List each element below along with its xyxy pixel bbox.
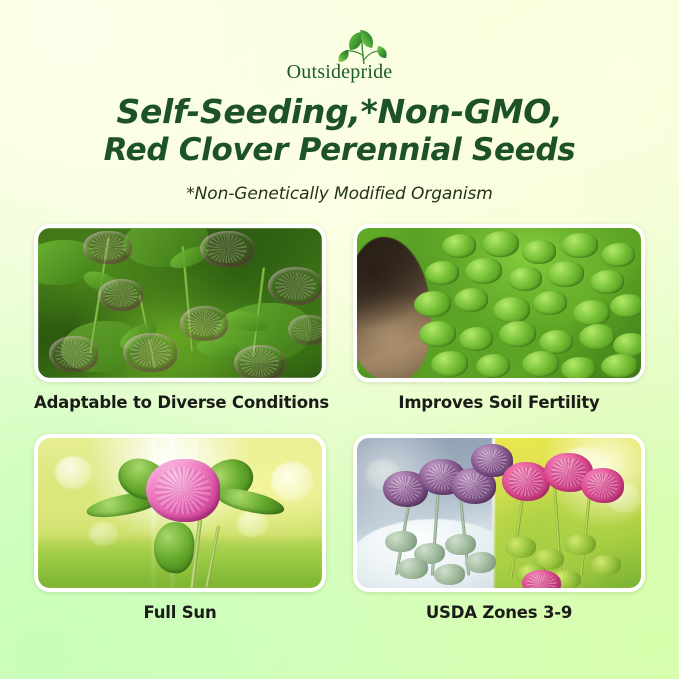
headline-line-1: Self-Seeding,*Non-GMO, xyxy=(0,92,679,132)
feature-photo-full-sun xyxy=(34,434,326,592)
feature-photo-adaptable xyxy=(34,224,326,382)
headline-line-2: Red Clover Perennial Seeds xyxy=(0,132,679,170)
feature-caption-adaptable: Adaptable to Diverse Conditions xyxy=(34,393,326,412)
feature-photo-soil-fertility xyxy=(353,224,645,382)
product-infographic-poster: Outsidepride Self-Seeding,*Non-GMO, Red … xyxy=(0,0,679,679)
feature-caption-soil-fertility: Improves Soil Fertility xyxy=(353,393,645,412)
photo-inner xyxy=(357,438,641,588)
feature-grid: Adaptable to Diverse Conditions xyxy=(34,224,645,636)
feature-card-full-sun: Full Sun xyxy=(34,434,326,622)
brand-wordmark: Outsidepride xyxy=(266,62,414,82)
headline-footnote: *Non-Genetically Modified Organism xyxy=(0,184,679,204)
feature-caption-full-sun: Full Sun xyxy=(34,603,326,622)
feature-card-usda-zones: USDA Zones 3-9 xyxy=(353,434,645,622)
photo-inner xyxy=(38,438,322,588)
photo-inner xyxy=(38,228,322,378)
feature-photo-usda-zones xyxy=(353,434,645,592)
brand-logo-inner: Outsidepride xyxy=(266,26,414,86)
leaf-sprig-icon xyxy=(328,26,390,66)
photo-inner xyxy=(357,228,641,378)
feature-card-adaptable: Adaptable to Diverse Conditions xyxy=(34,224,326,412)
page-title: Self-Seeding,*Non-GMO, Red Clover Perenn… xyxy=(0,92,679,170)
feature-caption-usda-zones: USDA Zones 3-9 xyxy=(353,603,645,622)
feature-card-soil-fertility: Improves Soil Fertility xyxy=(353,224,645,412)
brand-logo: Outsidepride xyxy=(0,26,679,88)
